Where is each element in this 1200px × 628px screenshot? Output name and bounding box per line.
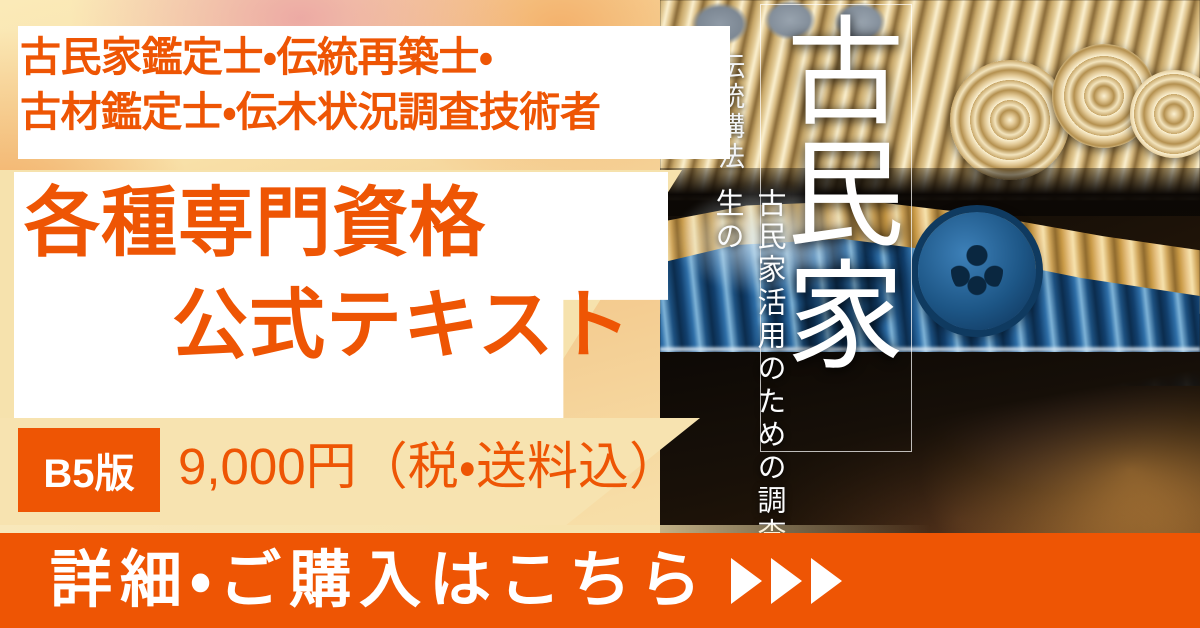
carved-swirl-icon <box>950 60 1070 180</box>
chevron-right-icon <box>771 558 802 604</box>
qualification-headline: 古民家鑑定士・伝統再築士・ 古材鑑定士・伝木状況調査技術者 <box>20 30 720 140</box>
main-title-line-1: 各種専門資格 <box>24 186 486 262</box>
family-crest-medallion-icon <box>918 212 1036 330</box>
cta-label: 詳細・ご購入はこちら <box>50 550 709 612</box>
chevron-right-icon <box>731 558 762 604</box>
chevron-right-icon <box>811 558 842 604</box>
headline-line-2: 古材鑑定士・伝木状況調査技術者 <box>20 85 720 140</box>
cta-arrow-group <box>731 558 842 604</box>
cta-top-sliver <box>0 525 930 533</box>
format-badge-b5: B5版 <box>18 428 160 512</box>
promo-banner[interactable]: 古民家 伝統構法 古民家活用のための調査と再生の 古民家鑑定士・伝統再築士・ 古… <box>0 0 1200 628</box>
price-amount: 9,000円（税・送料込） <box>178 434 680 500</box>
headline-line-1: 古民家鑑定士・伝統再築士・ <box>20 30 720 85</box>
book-cover-title: 古民家 <box>772 10 900 440</box>
cta-bar[interactable]: 詳細・ご購入はこちら <box>0 533 1200 628</box>
main-title-line-2: 公式テキスト <box>172 288 632 364</box>
